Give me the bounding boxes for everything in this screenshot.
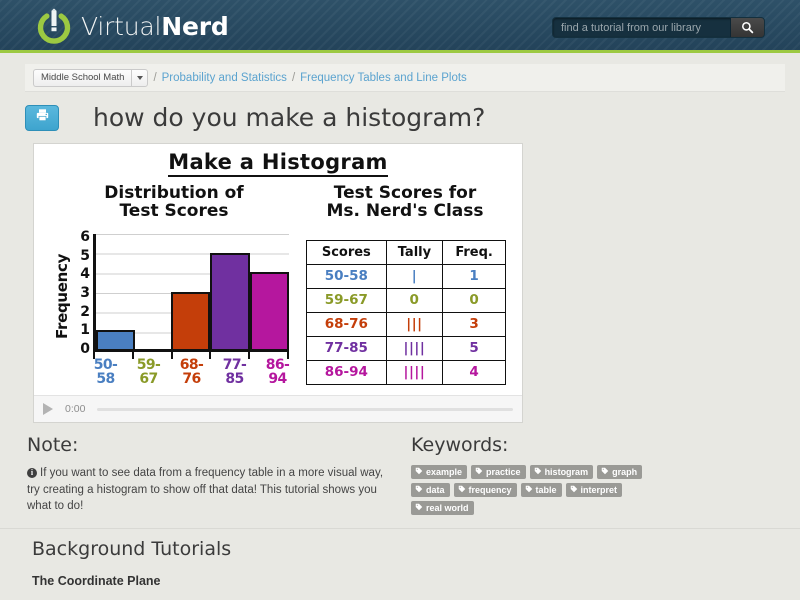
note-text-wrap: iIf you want to see data from a frequenc… [27, 465, 387, 515]
x-label-86-94: 86-94 [256, 358, 299, 386]
keyword-tag-practice[interactable]: practice [471, 465, 526, 479]
search-button[interactable] [730, 18, 764, 37]
chart-heading-line2: Test Scores [54, 202, 294, 220]
plot-area [93, 234, 289, 352]
frequency-table-cell-tally: | [386, 265, 443, 289]
frequency-table-cell-freq: 0 [443, 289, 506, 313]
y-tick-0: 0 [74, 342, 90, 356]
frequency-table-cell-tally: 0 [386, 289, 443, 313]
keyword-tag-label: data [426, 485, 445, 495]
whiteboard-image: Make a Histogram Distribution of Test Sc… [34, 144, 522, 396]
keyword-tag-graph[interactable]: graph [597, 465, 642, 479]
search-input[interactable] [553, 18, 730, 37]
y-tick-3: 3 [74, 286, 90, 300]
background-tutorial-item-0[interactable]: The Coordinate Plane [32, 574, 161, 588]
keyword-tag-label: practice [486, 467, 521, 477]
keyword-tag-label: real world [426, 503, 469, 513]
frequency-table-cell-freq: 3 [443, 313, 506, 337]
frequency-table-cell-scores: 86-94 [307, 361, 387, 385]
frequency-table: ScoresTallyFreq.50-58|159-670068-76|||37… [306, 240, 506, 385]
breadcrumb-link-probability-and-statistics[interactable]: Probability and Statistics [162, 72, 287, 84]
tag-icon [534, 467, 542, 477]
keyword-tag-interpret[interactable]: interpret [566, 483, 623, 497]
tag-icon [415, 503, 423, 513]
keywords-heading: Keywords: [411, 434, 771, 456]
player-controls[interactable]: 0:00 [34, 395, 522, 422]
histogram-bar-77-85 [210, 253, 249, 349]
page-title: how do you make a histogram? [93, 103, 485, 132]
bars-container [96, 234, 289, 349]
x-label-59-67: 59-67 [127, 358, 170, 386]
chevron-down-icon [137, 76, 143, 80]
tag-icon [601, 467, 609, 477]
y-tick-1: 1 [74, 323, 90, 337]
keyword-tag-label: histogram [545, 467, 589, 477]
info-icon: i [27, 468, 37, 478]
progress-track[interactable] [97, 408, 513, 411]
title-row: how do you make a histogram? [25, 103, 485, 132]
note-heading: Note: [27, 434, 387, 456]
keyword-tag-label: example [426, 467, 462, 477]
chart-heading-line1: Distribution of [54, 184, 294, 202]
top-navbar: VirtualNerd [0, 0, 800, 53]
keyword-tag-data[interactable]: data [411, 483, 450, 497]
y-tick-2: 2 [74, 305, 90, 319]
frequency-table-cell-tally: |||| [386, 337, 443, 361]
x-label-50-58: 50-58 [84, 358, 127, 386]
tag-icon [415, 485, 423, 495]
frequency-table-header-freq: Freq. [443, 241, 506, 265]
frequency-table-row: 77-85||||5 [307, 337, 506, 361]
subject-dropdown-toggle[interactable] [131, 69, 148, 87]
keyword-tag-histogram[interactable]: histogram [530, 465, 594, 479]
frequency-table-cell-freq: 5 [443, 337, 506, 361]
background-tutorials-section: Background Tutorials The Coordinate Plan… [0, 528, 800, 600]
y-axis-ticks: 6543210 [74, 230, 90, 356]
keywords-tag-list: examplepracticehistogramgraphdatafrequen… [411, 465, 651, 515]
keyword-tag-label: table [536, 485, 557, 495]
table-heading-line2: Ms. Nerd's Class [296, 202, 514, 220]
print-button[interactable] [25, 105, 59, 131]
search-box[interactable] [552, 17, 765, 38]
power-pencil-logo-icon [36, 8, 72, 44]
x-axis-labels: 50-5859-6768-7677-8586-94 [84, 358, 299, 386]
subject-dropdown[interactable]: Middle School Math [33, 69, 148, 87]
y-axis-label: Frequency [52, 236, 72, 356]
keyword-tag-label: interpret [581, 485, 618, 495]
frequency-table-cell-scores: 50-58 [307, 265, 387, 289]
tag-icon [475, 467, 483, 477]
keyword-tag-example[interactable]: example [411, 465, 467, 479]
search-icon [741, 21, 754, 34]
y-tick-4: 4 [74, 267, 90, 281]
frequency-table-cell-scores: 68-76 [307, 313, 387, 337]
table-heading: Test Scores for Ms. Nerd's Class [296, 184, 514, 221]
note-section: Note: iIf you want to see data from a fr… [27, 434, 387, 515]
keywords-section: Keywords: examplepracticehistogramgraphd… [411, 434, 771, 515]
frequency-table-row: 68-76|||3 [307, 313, 506, 337]
breadcrumb: Middle School Math / Probability and Sta… [25, 64, 785, 92]
frequency-table-row: 50-58|1 [307, 265, 506, 289]
x-label-68-76: 68-76 [170, 358, 213, 386]
section-divider [0, 528, 800, 529]
tag-icon [458, 485, 466, 495]
background-tutorials-heading: Background Tutorials [32, 538, 231, 560]
keyword-tag-real-world[interactable]: real world [411, 501, 474, 515]
tag-icon [570, 485, 578, 495]
site-logo[interactable]: VirtualNerd [36, 8, 229, 44]
breadcrumb-separator-2: / [292, 72, 295, 84]
chart-heading: Distribution of Test Scores [54, 184, 294, 221]
keyword-tag-label: frequency [469, 485, 512, 495]
logo-wordmark: VirtualNerd [81, 12, 229, 41]
current-time: 0:00 [65, 403, 85, 415]
frequency-table-header-row: ScoresTallyFreq. [307, 241, 506, 265]
tag-icon [415, 467, 423, 477]
frequency-table-cell-freq: 4 [443, 361, 506, 385]
frequency-table-header-tally: Tally [386, 241, 443, 265]
histogram-bar-68-76 [171, 292, 210, 350]
tag-icon [525, 485, 533, 495]
frequency-table-cell-scores: 59-67 [307, 289, 387, 313]
subject-dropdown-label[interactable]: Middle School Math [33, 69, 131, 87]
frequency-table-cell-tally: ||| [386, 313, 443, 337]
histogram-bar-86-94 [250, 272, 289, 349]
frequency-table-row: 59-6700 [307, 289, 506, 313]
breadcrumb-link-frequency-tables-and-line-plots[interactable]: Frequency Tables and Line Plots [300, 72, 467, 84]
frequency-table-cell-scores: 77-85 [307, 337, 387, 361]
histogram-chart: Frequency 6543210 50-5859-6768-7677-8586… [56, 230, 301, 380]
printer-icon [35, 108, 50, 127]
board-title: Make a Histogram [34, 150, 522, 174]
frequency-table-header-scores: Scores [307, 241, 387, 265]
y-tick-5: 5 [74, 249, 90, 263]
y-tick-6: 6 [74, 230, 90, 244]
video-player[interactable]: Make a Histogram Distribution of Test Sc… [33, 143, 523, 423]
frequency-table-cell-tally: |||| [386, 361, 443, 385]
keyword-tag-label: graph [612, 467, 637, 477]
frequency-table-row: 86-94||||4 [307, 361, 506, 385]
note-text: If you want to see data from a frequency… [27, 467, 383, 512]
keyword-tag-frequency[interactable]: frequency [454, 483, 517, 497]
frequency-table-cell-freq: 1 [443, 265, 506, 289]
keyword-tag-table[interactable]: table [521, 483, 562, 497]
play-icon[interactable] [43, 403, 53, 415]
x-label-77-85: 77-85 [213, 358, 256, 386]
histogram-bar-50-58 [96, 330, 135, 349]
breadcrumb-separator-1: / [153, 72, 156, 84]
frequency-table-body: ScoresTallyFreq.50-58|159-670068-76|||37… [307, 241, 506, 385]
table-heading-line1: Test Scores for [296, 184, 514, 202]
